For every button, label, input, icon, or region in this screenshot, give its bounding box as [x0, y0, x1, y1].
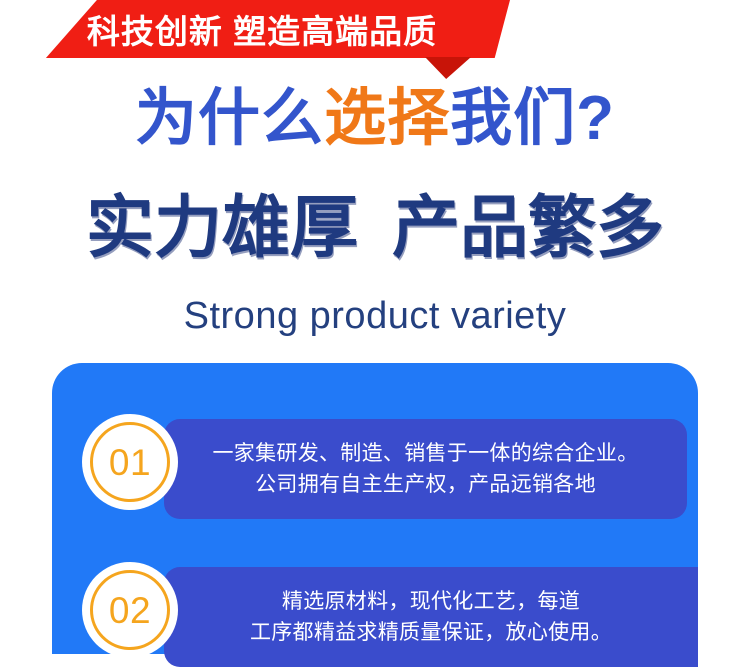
feature-number-badge: 02 — [82, 562, 178, 658]
ribbon-banner: 科技创新 塑造高端品质 — [0, 0, 750, 80]
page-title-part-why: 为什么 — [135, 84, 324, 153]
feature-text-line: 精选原材料，现代化工艺，每道 — [282, 586, 580, 617]
page-title-primary: 为什么选择我们? — [0, 82, 750, 156]
feature-text-panel: 一家集研发、制造、销售于一体的综合企业。 公司拥有自主生产权，产品远销各地 — [164, 419, 687, 519]
feature-text-panel: 精选原材料，现代化工艺，每道 工序都精益求精质量保证，放心使用。 — [164, 567, 698, 667]
page-title-secondary: 实力雄厚产品繁多 — [0, 182, 750, 274]
feature-card: 一家集研发、制造、销售于一体的综合企业。 公司拥有自主生产权，产品远销各地 01… — [52, 363, 698, 654]
list-item: 精选原材料，现代化工艺，每道 工序都精益求精质量保证，放心使用。 02 — [52, 567, 698, 667]
list-item: 一家集研发、制造、销售于一体的综合企业。 公司拥有自主生产权，产品远销各地 01 — [52, 419, 698, 519]
ribbon-tail-triangle — [425, 57, 471, 79]
feature-text-line: 工序都精益求精质量保证，放心使用。 — [250, 617, 612, 648]
feature-number-label: 01 — [109, 444, 151, 481]
feature-text-line: 一家集研发、制造、销售于一体的综合企业。 — [213, 438, 639, 469]
feature-text-line: 公司拥有自主生产权，产品远销各地 — [255, 469, 596, 500]
badge-ring-icon: 02 — [90, 570, 170, 650]
feature-number-label: 02 — [109, 592, 151, 629]
badge-ring-icon: 01 — [90, 422, 170, 502]
page-title-part-choose: 选择 — [324, 84, 450, 153]
feature-number-badge: 01 — [82, 414, 178, 510]
ribbon-slogan-text: 科技创新 塑造高端品质 — [0, 0, 510, 58]
page-title-part-us: 我们? — [450, 84, 615, 153]
subtitle-strength: 实力雄厚 — [86, 190, 358, 266]
subtitle-variety: 产品繁多 — [392, 190, 664, 266]
subtitle-english-text: Strong product variety — [0, 293, 750, 339]
